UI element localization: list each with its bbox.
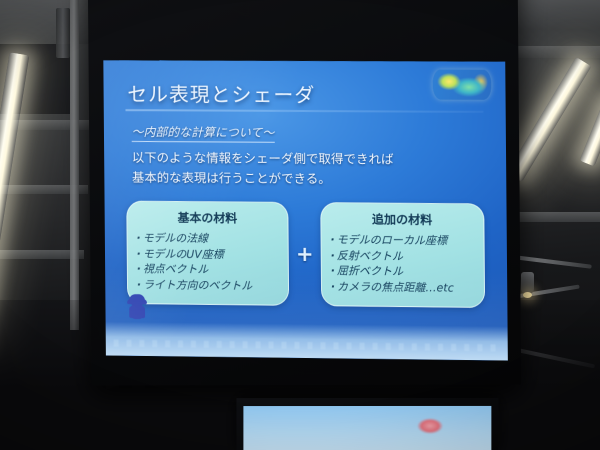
secondary-display-bezel: [236, 398, 498, 450]
title-divider: [125, 109, 483, 113]
plus-operator: +: [295, 242, 315, 266]
main-display-bezel: セル表現とシェーダ 〜内部的な計算について〜 以下のような情報をシェーダ側で取得…: [88, 0, 522, 385]
materials-comparison-row: 基本の材料 モデルの法線 モデルのUV座標 視点ベクトル ライト方向のベクトル …: [122, 201, 489, 308]
slide-mascot-character-icon: [127, 294, 147, 320]
secondary-screen-graphic: [417, 418, 443, 434]
fluorescent-light-icon: [579, 96, 600, 167]
slide-bottom-band: [106, 322, 508, 361]
slide-subheading: 〜内部的な計算について〜: [132, 123, 275, 143]
mascot-body: [131, 303, 143, 319]
list-item: モデルのローカル座標: [330, 232, 474, 249]
basic-materials-title: 基本の材料: [136, 209, 278, 227]
list-item: ライト方向のベクトル: [137, 277, 279, 294]
list-item: 反射ベクトル: [330, 248, 474, 265]
slide-content: セル表現とシェーダ 〜内部的な計算について〜 以下のような情報をシェーダ側で取得…: [103, 60, 508, 360]
list-item: カメラの焦点距離…etc: [331, 279, 475, 296]
slide-body-line-1: 以下のような情報をシェーダ側で取得できれば: [132, 149, 488, 169]
basic-materials-box: 基本の材料 モデルの法線 モデルのUV座標 視点ベクトル ライト方向のベクトル: [126, 201, 289, 306]
list-item: モデルのUV座標: [137, 246, 279, 263]
basic-materials-list: モデルの法線 モデルのUV座標 視点ベクトル ライト方向のベクトル: [136, 231, 279, 295]
ceiling-duct: [56, 8, 70, 58]
presentation-screen: セル表現とシェーダ 〜内部的な計算について〜 以下のような情報をシェーダ側で取得…: [103, 60, 508, 360]
list-item: モデルの法線: [136, 231, 278, 248]
ceiling-beam: [70, 0, 79, 330]
list-item: 屈折ベクトル: [331, 264, 475, 281]
photo-scene: セル表現とシェーダ 〜内部的な計算について〜 以下のような情報をシェーダ側で取得…: [0, 0, 600, 450]
slide-body-line-2: 基本的な表現は行うことができる。: [132, 169, 488, 190]
additional-materials-title: 追加の材料: [330, 210, 474, 228]
additional-materials-list: モデルのローカル座標 反射ベクトル 屈折ベクトル カメラの焦点距離…etc: [330, 232, 475, 296]
presentation-logo-icon: [433, 69, 492, 99]
list-item: 視点ベクトル: [137, 262, 279, 279]
additional-materials-box: 追加の材料 モデルのローカル座標 反射ベクトル 屈折ベクトル カメラの焦点距離……: [320, 202, 485, 308]
secondary-screen: [243, 406, 491, 450]
spotlight-icon: [521, 272, 534, 294]
